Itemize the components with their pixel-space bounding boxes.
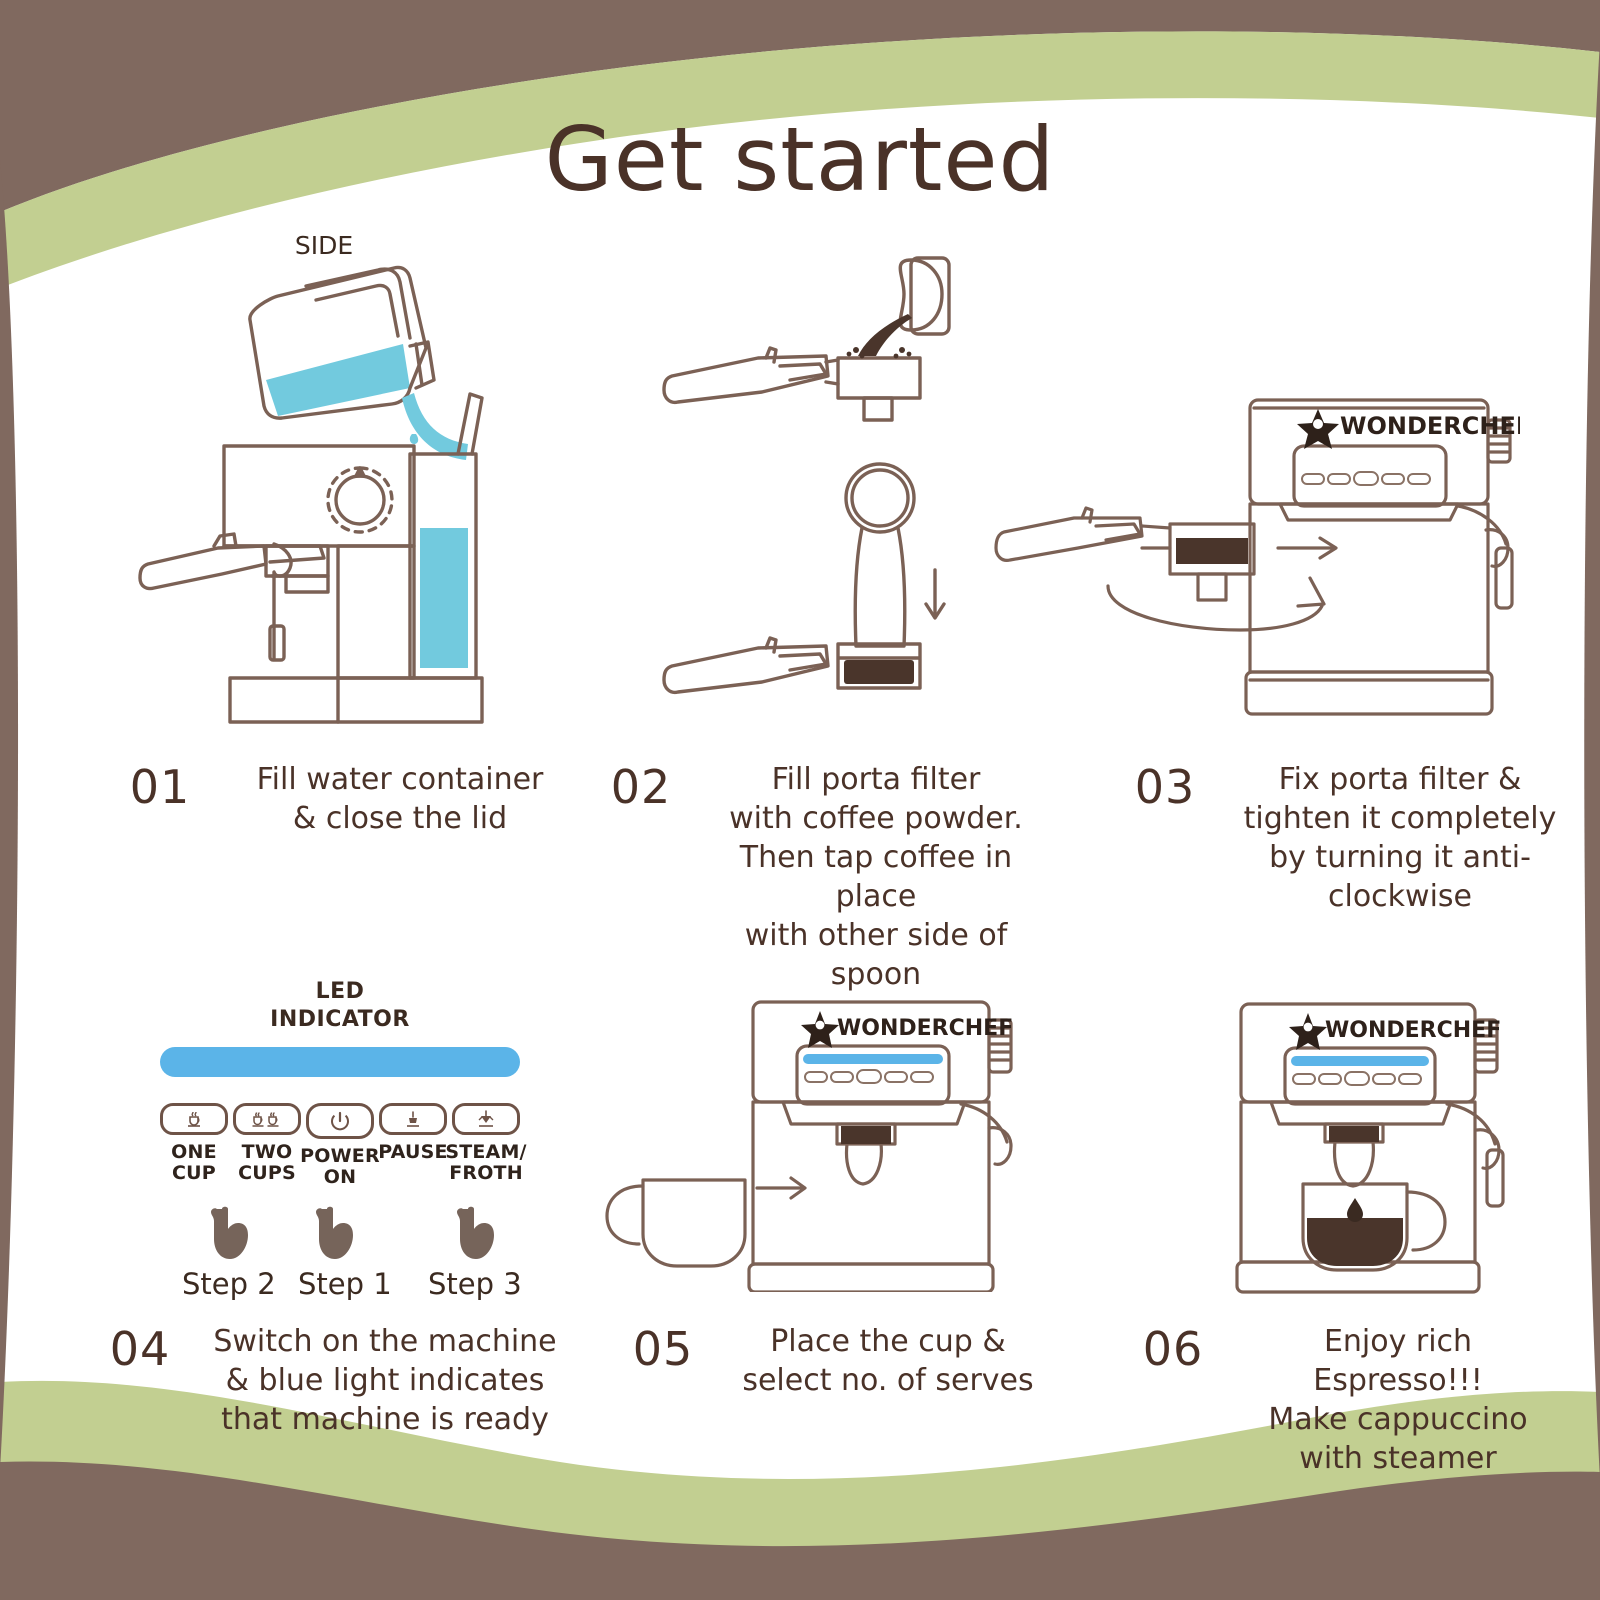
two-cups-label: TWO CUPS [238, 1142, 296, 1185]
steam-wand-tube-03 [1496, 548, 1512, 608]
control-button-steam[interactable]: STEAM/ FROTH [452, 1103, 520, 1189]
step-05-number: 05 [608, 1322, 718, 1372]
control-button-pause[interactable]: PAUSE [379, 1103, 447, 1189]
power-icon [329, 1110, 351, 1132]
pause-pill[interactable] [379, 1103, 447, 1135]
step-04-caption: 04 Switch on the machine & blue light in… [80, 1322, 570, 1439]
pause-hand-icon [403, 1110, 423, 1128]
control-button-two-cups[interactable]: TWO CUPS [233, 1103, 301, 1189]
step-03-illustration: WONDERCHEF [980, 378, 1520, 718]
panel-buttons-03 [1302, 472, 1430, 485]
brand-star-icon-05 [801, 1011, 839, 1048]
two-cups-pill[interactable] [233, 1103, 301, 1135]
porta-filter-neck-top [766, 348, 776, 362]
rotate-arrow-ellipse [1108, 586, 1322, 630]
step-05-illustration: WONDERCHEF [575, 972, 1025, 1292]
step-01-illustration: SIDE [110, 228, 530, 728]
espresso-cup-handle [1407, 1192, 1445, 1250]
porta-filter-link-03 [1142, 526, 1170, 548]
control-button-one-cup[interactable]: ONE CUP [160, 1103, 228, 1189]
porta-filter-stem-03 [1198, 574, 1226, 600]
step-03-caption: 03 Fix porta filter & tighten it complet… [1110, 760, 1580, 916]
one-cup-icon [183, 1110, 205, 1128]
espresso-liquid [1307, 1218, 1403, 1266]
porta-filter-handle [140, 546, 266, 589]
control-button-row: ONE CUP [160, 1103, 520, 1189]
machine-body-03 [1250, 504, 1488, 672]
brew-spout-06 [1335, 1142, 1374, 1186]
steam-wand-tip [270, 626, 284, 660]
tamper-knob-outer [846, 464, 914, 532]
step-label-row: Step 2 Step 1 Step 3 [150, 1267, 530, 1301]
panel-buttons-05 [805, 1070, 933, 1083]
porta-filter-neck-03 [1082, 508, 1092, 522]
brand-logo-05: WONDERCHEF [801, 1011, 1013, 1048]
coffee-bed [844, 660, 914, 684]
pause-label: PAUSE [378, 1142, 447, 1163]
brand-star-icon-06 [1289, 1013, 1327, 1050]
coffee-bed-06 [1329, 1126, 1379, 1142]
brand-logo-06: WONDERCHEF [1289, 1013, 1501, 1050]
machine-lower-body [338, 546, 414, 678]
hand-pointer-icon-step2 [210, 1205, 254, 1263]
empty-cup-body [643, 1180, 745, 1266]
step-04-text: Switch on the machine & blue light indic… [200, 1322, 570, 1439]
two-cups-icon [252, 1110, 282, 1128]
step-label-3: Step 3 [428, 1267, 522, 1301]
tank-water [420, 528, 468, 668]
step-02-illustration [630, 248, 1030, 698]
coffee-bed-03 [1176, 538, 1248, 564]
rotate-arrow-head [1298, 578, 1324, 606]
brand-text-03: WONDERCHEF [1340, 412, 1520, 440]
step-label-2: Step 2 [182, 1267, 276, 1301]
brew-spout-05 [847, 1144, 882, 1184]
steam-wand-06 [1447, 1104, 1495, 1144]
pointing-hand-row [160, 1205, 520, 1263]
steam-wand-grip-05 [989, 1128, 1011, 1165]
step-01-caption: 01 Fill water container & close the lid [100, 760, 580, 838]
step-02-number: 02 [586, 760, 696, 810]
step-06-caption: 06 Enjoy rich Espresso!!! Make cappuccin… [1118, 1322, 1568, 1478]
power-label: POWER ON [300, 1146, 380, 1189]
step-03-number: 03 [1110, 760, 1220, 810]
step-01-text: Fill water container & close the lid [220, 760, 580, 838]
water-jug-handle-inner [316, 285, 398, 336]
step-02-caption: 02 Fill porta filter with coffee powder.… [586, 760, 1056, 994]
infographic-page: Get started SIDE [0, 0, 1600, 1600]
led-bar-06 [1291, 1056, 1429, 1066]
tamper-knob-inner [852, 470, 908, 526]
machine-base [230, 678, 482, 722]
panel-buttons-06 [1293, 1072, 1421, 1085]
side-view-label: SIDE [295, 231, 353, 260]
step-04-number: 04 [80, 1322, 200, 1372]
machine-base-03 [1246, 672, 1492, 714]
power-pill[interactable] [306, 1103, 374, 1139]
brand-text-06: WONDERCHEF [1325, 1018, 1501, 1043]
led-indicator-heading: LED INDICATOR [150, 978, 530, 1033]
espresso-drop [1347, 1198, 1363, 1222]
drip-tray-shelf [272, 576, 328, 592]
step-06-illustration: WONDERCHEF [1185, 972, 1585, 1302]
hand-pointer-icon-step1 [315, 1205, 359, 1263]
porta-filter-basket-top [838, 358, 920, 398]
porta-filter-neck-bottom [766, 638, 776, 652]
step-03-text: Fix porta filter & tighten it completely… [1220, 760, 1580, 916]
steam-froth-pill[interactable] [452, 1103, 520, 1135]
coffee-bed-05 [841, 1126, 891, 1144]
one-cup-label: ONE CUP [171, 1142, 217, 1185]
control-button-power[interactable]: POWER ON [306, 1103, 374, 1189]
step-05-caption: 05 Place the cup & select no. of serves [608, 1322, 1058, 1400]
tamper-stem [855, 528, 905, 646]
step-06-text: Enjoy rich Espresso!!! Make cappuccino w… [1228, 1322, 1568, 1478]
hand-pointer-icon-step3 [456, 1205, 500, 1263]
steam-wand-05 [961, 1104, 1007, 1142]
step-label-1: Step 1 [298, 1267, 392, 1301]
one-cup-pill[interactable] [160, 1103, 228, 1135]
water-splash [410, 434, 418, 444]
step-02-text: Fill porta filter with coffee powder. Th… [696, 760, 1056, 994]
step-01-number: 01 [100, 760, 220, 810]
steam-froth-icon [475, 1110, 497, 1128]
step-05-text: Place the cup & select no. of serves [718, 1322, 1058, 1400]
machine-base-06 [1237, 1262, 1479, 1292]
machine-base-05 [749, 1264, 993, 1292]
machine-panel-03 [1294, 446, 1446, 506]
brand-text-05: WONDERCHEF [837, 1016, 1013, 1041]
led-control-panel: LED INDICATOR ONE CUP [150, 978, 530, 1301]
machine-upper-body [224, 446, 414, 546]
led-indicator-bar [160, 1047, 520, 1077]
porta-filter-stem-top [864, 398, 892, 420]
control-dial [336, 476, 384, 524]
empty-cup-handle [607, 1186, 643, 1244]
steam-froth-label: STEAM/ FROTH [445, 1142, 526, 1185]
steps-grid: SIDE [0, 0, 1600, 1600]
steam-wand-03 [1458, 506, 1506, 544]
steam-wand-tube-06 [1487, 1150, 1503, 1206]
led-bar-05 [803, 1054, 943, 1064]
step-06-number: 06 [1118, 1322, 1228, 1372]
water-jug-handle [306, 269, 410, 338]
